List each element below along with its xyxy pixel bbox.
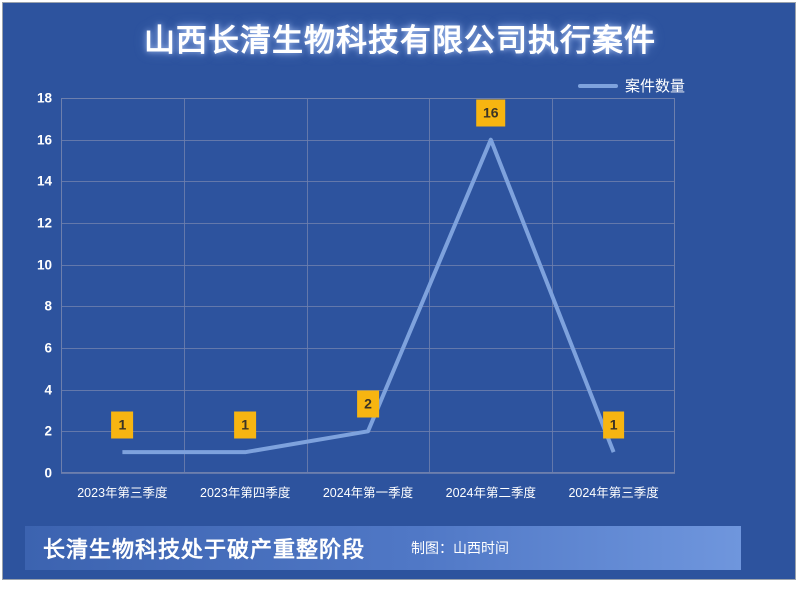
- legend-line-marker: [578, 84, 618, 88]
- page-title: 山西长清生物科技有限公司执行案件: [3, 15, 796, 60]
- data-point-label: 1: [603, 412, 625, 439]
- y-axis-tick-label: 14: [37, 174, 52, 189]
- x-axis-tick-label: 2024年第三季度: [568, 482, 658, 501]
- x-axis-tick-label: 2023年第四季度: [200, 482, 290, 501]
- y-axis-tick-label: 6: [44, 341, 52, 356]
- chart-poster: 山西长清生物科技有限公司执行案件 案件数量 024681012141618 20…: [0, 0, 800, 595]
- y-axis-tick-label: 0: [44, 466, 52, 481]
- y-axis-tick-label: 16: [37, 132, 52, 147]
- chart-canvas: 山西长清生物科技有限公司执行案件 案件数量 024681012141618 20…: [2, 2, 796, 580]
- data-point-label: 2: [357, 391, 379, 418]
- y-axis-tick-label: 2: [44, 424, 52, 439]
- x-axis-tick-label: 2023年第三季度: [77, 482, 167, 501]
- x-axis-tick-label: 2024年第一季度: [323, 482, 413, 501]
- y-axis-tick-label: 18: [37, 91, 52, 106]
- caption-bar: 长清生物科技处于破产重整阶段 制图：山西时间: [25, 526, 741, 570]
- y-axis-tick-label: 8: [44, 299, 52, 314]
- plot-area: 024681012141618 2023年第三季度2023年第四季度2024年第…: [61, 98, 675, 473]
- y-axis-tick-label: 10: [37, 257, 52, 272]
- caption-credit: 制图：山西时间: [411, 538, 509, 558]
- data-point-label: 1: [234, 412, 256, 439]
- legend-label: 案件数量: [625, 75, 685, 96]
- y-axis-tick-label: 12: [37, 216, 52, 231]
- x-axis-tick-label: 2024年第二季度: [446, 482, 536, 501]
- data-point-label: 1: [111, 412, 133, 439]
- data-point-label: 16: [476, 99, 506, 126]
- caption-headline: 长清生物科技处于破产重整阶段: [43, 532, 365, 564]
- y-axis-tick-label: 4: [44, 382, 52, 397]
- gridline-horizontal: [61, 473, 675, 474]
- chart-legend: 案件数量: [578, 75, 685, 96]
